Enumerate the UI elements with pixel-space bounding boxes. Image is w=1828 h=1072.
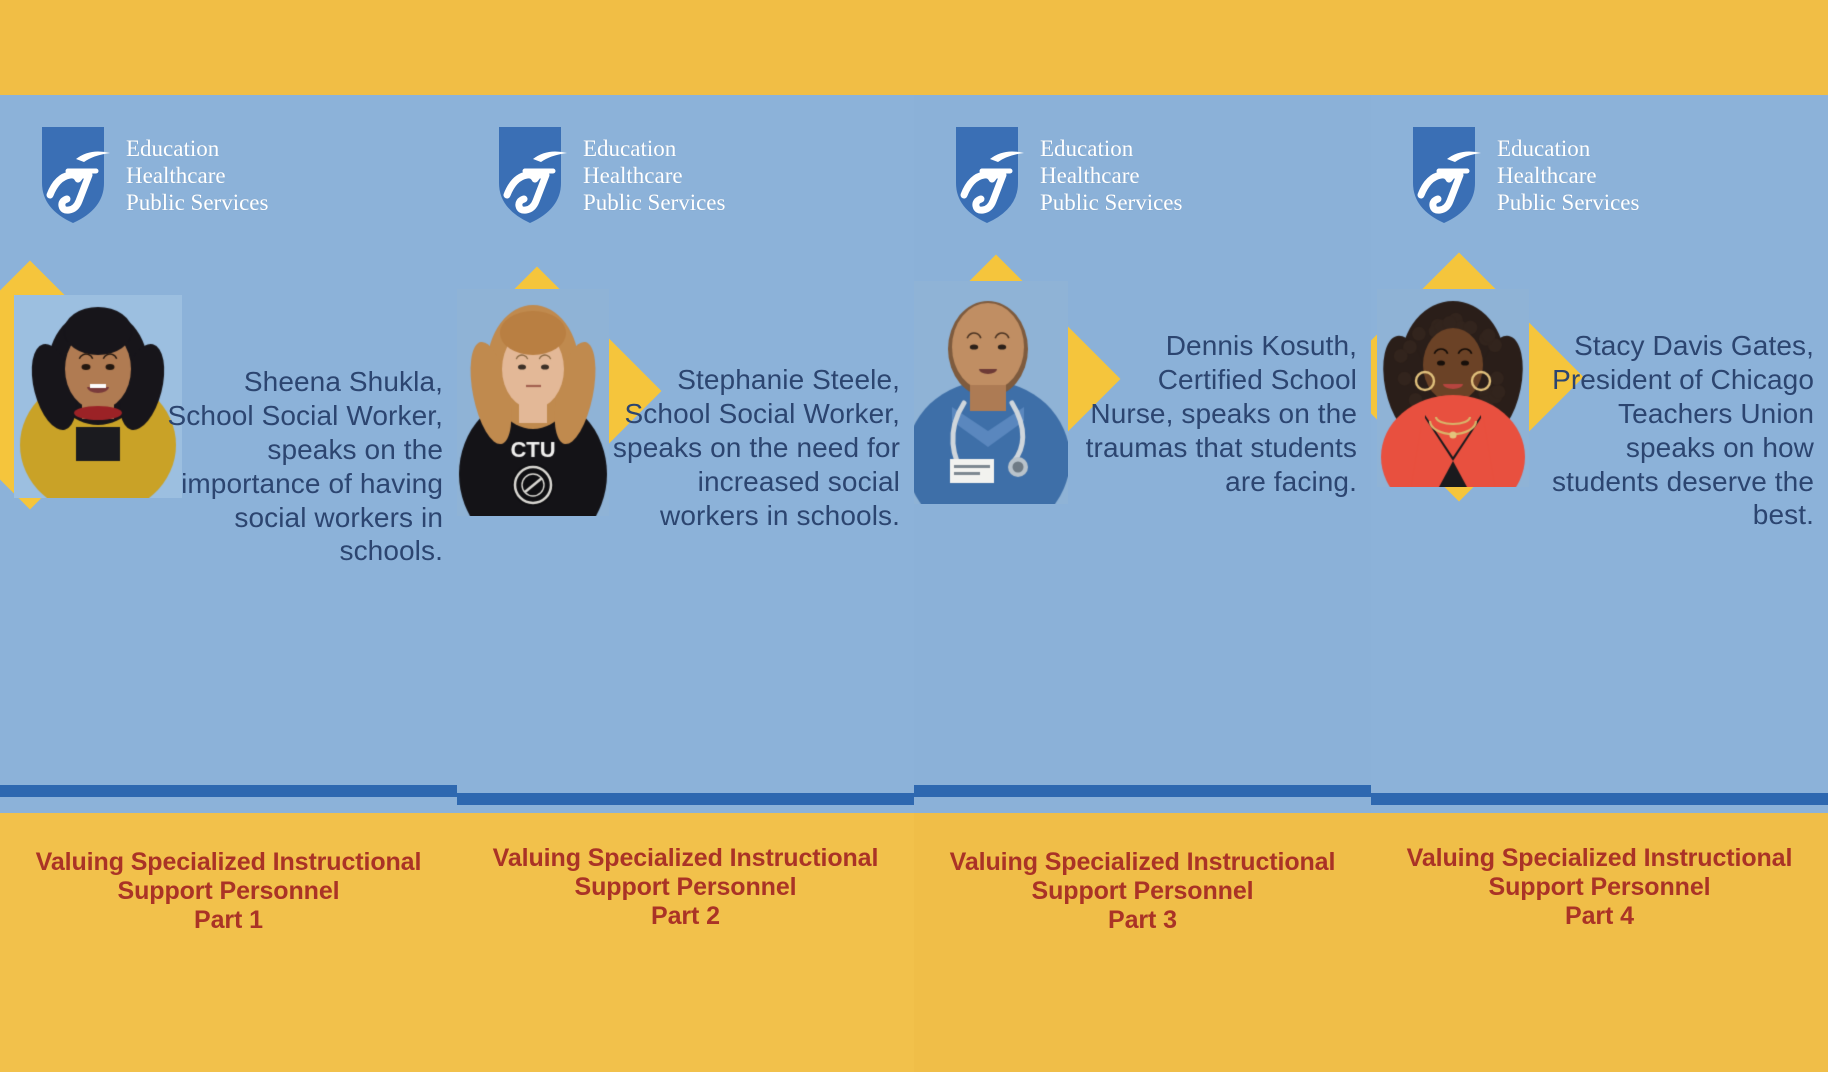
caption-cell-3[interactable]: Valuing Specialized Instructional Suppor…: [914, 813, 1371, 1072]
caption-1: Valuing Specialized Instructional Suppor…: [0, 848, 457, 934]
caption-3-line-2: Support Personnel: [914, 877, 1371, 906]
portrait-photo-2: [457, 289, 609, 516]
aft-shield-icon: [1409, 125, 1487, 225]
aft-tagline-line-3: Public Services: [126, 189, 268, 216]
aft-tagline-line-2: Healthcare: [1040, 162, 1182, 189]
person-block-3: Dennis Kosuth, Certified School Nurse, s…: [914, 281, 1371, 711]
aft-tagline-line-1: Education: [1040, 135, 1182, 162]
aft-tagline-line-2: Healthcare: [583, 162, 725, 189]
caption-1-line-1: Valuing Specialized Instructional: [0, 848, 457, 877]
portrait-photo-4: [1377, 289, 1529, 487]
aft-shield-icon: [952, 125, 1030, 225]
quote-text-3: Dennis Kosuth, Certified School Nurse, s…: [1067, 329, 1357, 498]
caption-2-line-2: Support Personnel: [457, 873, 914, 902]
card-divider-rule-4: [1371, 793, 1828, 805]
caption-4-line-3: Part 4: [1371, 902, 1828, 931]
caption-4-line-1: Valuing Specialized Instructional: [1371, 844, 1828, 873]
caption-strip: Valuing Specialized Instructional Suppor…: [0, 813, 1828, 1072]
quote-text-4: Stacy Davis Gates, President of Chicago …: [1524, 329, 1814, 532]
caption-4-line-2: Support Personnel: [1371, 873, 1828, 902]
card-divider-rule-3: [914, 785, 1371, 797]
aft-logo-tagline: Education Healthcare Public Services: [1497, 135, 1639, 216]
person-block-4: Stacy Davis Gates, President of Chicago …: [1371, 281, 1828, 711]
aft-tagline-line-1: Education: [583, 135, 725, 162]
aft-tagline-line-1: Education: [1497, 135, 1639, 162]
aft-shield-icon: [495, 125, 573, 225]
caption-2-line-3: Part 2: [457, 902, 914, 931]
caption-1-line-3: Part 1: [0, 906, 457, 935]
quote-text-1: Sheena Shukla, School Social Worker, spe…: [153, 365, 443, 568]
caption-4: Valuing Specialized Instructional Suppor…: [1371, 844, 1828, 930]
aft-tagline-line-2: Healthcare: [1497, 162, 1639, 189]
caption-1-line-2: Support Personnel: [0, 877, 457, 906]
portrait-photo-3: [914, 281, 1068, 504]
caption-3-line-1: Valuing Specialized Instructional: [914, 848, 1371, 877]
aft-tagline-line-1: Education: [126, 135, 268, 162]
aft-tagline-line-3: Public Services: [1040, 189, 1182, 216]
aft-tagline-line-2: Healthcare: [126, 162, 268, 189]
aft-logo-1: Education Healthcare Public Services: [38, 125, 268, 225]
card-divider-rule-1: [0, 785, 457, 797]
person-block-2: Stephanie Steele, School Social Worker, …: [457, 281, 914, 711]
aft-logo-tagline: Education Healthcare Public Services: [583, 135, 725, 216]
aft-tagline-line-3: Public Services: [1497, 189, 1639, 216]
top-yellow-band: [0, 0, 1828, 95]
person-block-1: Sheena Shukla, School Social Worker, spe…: [0, 281, 457, 711]
caption-cell-2[interactable]: Valuing Specialized Instructional Suppor…: [457, 813, 914, 1072]
aft-tagline-line-3: Public Services: [583, 189, 725, 216]
caption-2: Valuing Specialized Instructional Suppor…: [457, 844, 914, 930]
video-card-part-2[interactable]: Education Healthcare Public Services Ste…: [457, 95, 914, 813]
caption-2-line-1: Valuing Specialized Instructional: [457, 844, 914, 873]
card-divider-rule-2: [457, 793, 914, 805]
aft-shield-icon: [38, 125, 116, 225]
aft-logo-4: Education Healthcare Public Services: [1409, 125, 1639, 225]
aft-logo-3: Education Healthcare Public Services: [952, 125, 1182, 225]
video-card-part-1[interactable]: Education Healthcare Public Services She…: [0, 95, 457, 813]
caption-3-line-3: Part 3: [914, 906, 1371, 935]
caption-3: Valuing Specialized Instructional Suppor…: [914, 848, 1371, 934]
aft-logo-tagline: Education Healthcare Public Services: [126, 135, 268, 216]
aft-logo-2: Education Healthcare Public Services: [495, 125, 725, 225]
caption-cell-4[interactable]: Valuing Specialized Instructional Suppor…: [1371, 813, 1828, 1072]
video-card-part-4[interactable]: Education Healthcare Public Services Sta…: [1371, 95, 1828, 813]
video-card-strip: Education Healthcare Public Services She…: [0, 95, 1828, 813]
aft-logo-tagline: Education Healthcare Public Services: [1040, 135, 1182, 216]
quote-text-2: Stephanie Steele, School Social Worker, …: [600, 363, 900, 532]
caption-cell-1[interactable]: Valuing Specialized Instructional Suppor…: [0, 813, 457, 1072]
video-card-part-3[interactable]: Education Healthcare Public Services Den…: [914, 95, 1371, 813]
